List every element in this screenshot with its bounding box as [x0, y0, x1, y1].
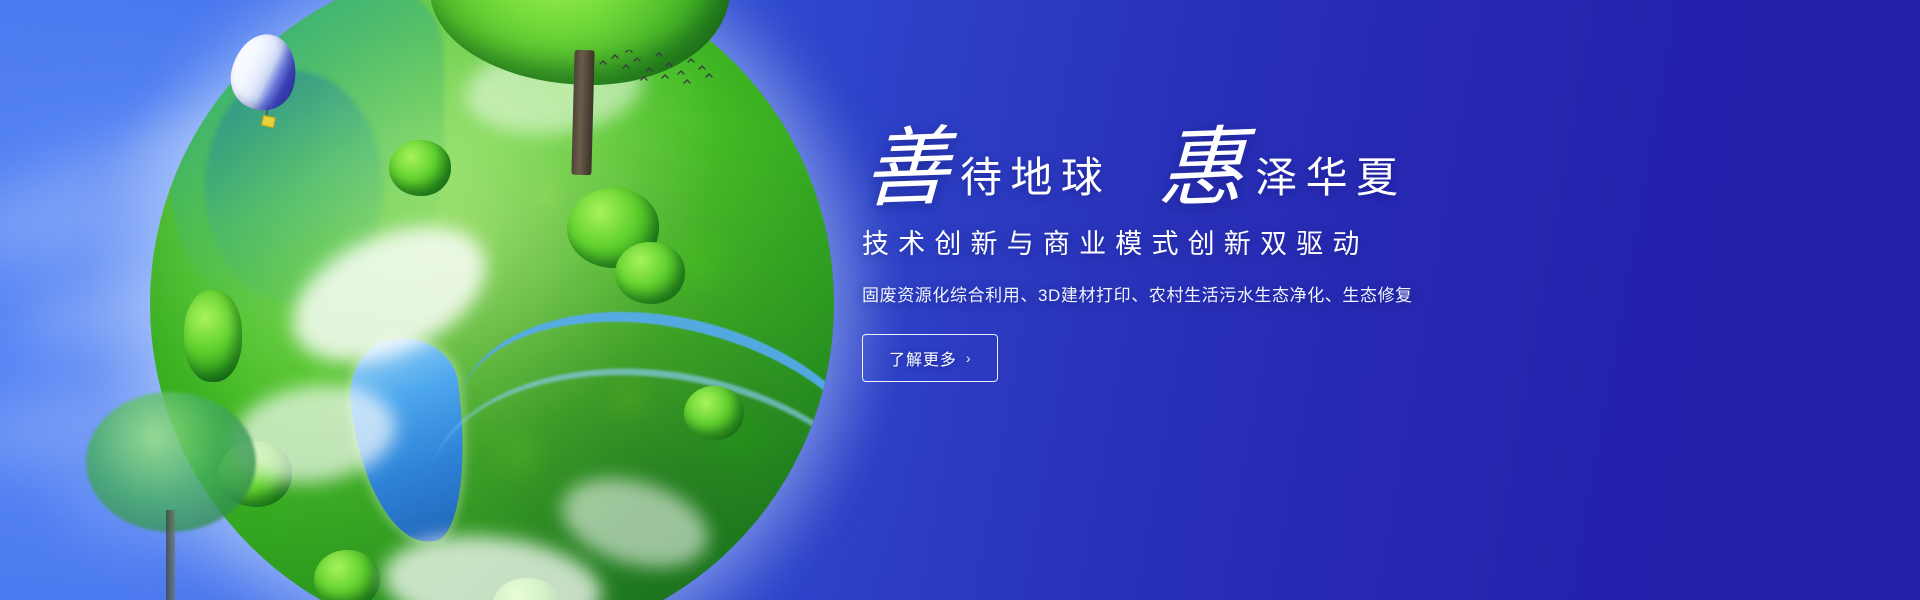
hero-banner: 善 待地球 惠 泽华夏 技术创新与商业模式创新双驱动 固废资源化综合利用、3D建… [0, 0, 1920, 600]
headline-rest-1: 待地球 [960, 158, 1111, 209]
tree-trunk [166, 510, 175, 600]
headline-lead-char-2: 惠 [1157, 129, 1250, 209]
hot-air-balloon-icon [232, 34, 296, 134]
description-text: 固废资源化综合利用、3D建材打印、农村生活污水生态净化、生态修复 [862, 284, 1622, 308]
headline-phrase-2: 惠 泽华夏 [1157, 132, 1406, 209]
headline-phrase-1: 善 待地球 [862, 132, 1111, 209]
tree-cluster [314, 550, 380, 600]
balloon-envelope [225, 28, 303, 116]
hero-copy: 善 待地球 惠 泽华夏 技术创新与商业模式创新双驱动 固废资源化综合利用、3D建… [862, 132, 1622, 382]
tree-cluster [615, 242, 685, 304]
learn-more-button[interactable]: 了解更多 › [862, 334, 998, 382]
balloon-basket [261, 115, 276, 128]
bird-flock-icon [596, 50, 716, 90]
tree-cluster [684, 386, 744, 440]
learn-more-label: 了解更多 [889, 346, 957, 370]
headline-rest-2: 泽华夏 [1255, 158, 1406, 209]
chevron-right-icon: › [966, 351, 972, 365]
page-title: 善 待地球 惠 泽华夏 [862, 132, 1622, 209]
subtitle: 技术创新与商业模式创新双驱动 [862, 227, 1622, 262]
tree-trunk [571, 50, 594, 175]
headline-lead-char-1: 善 [862, 129, 955, 209]
small-tree-icon [86, 392, 256, 600]
tree-cluster [184, 290, 242, 382]
